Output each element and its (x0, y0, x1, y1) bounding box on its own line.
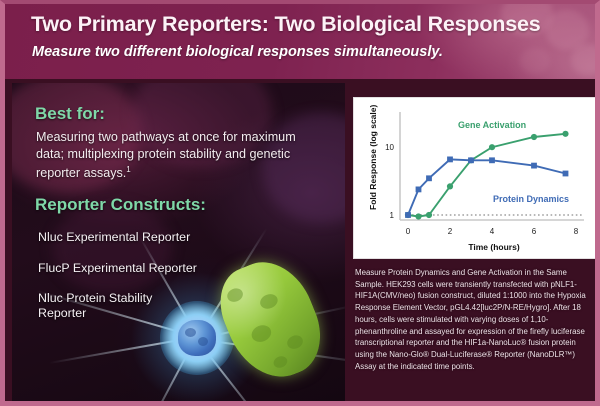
data-point (531, 163, 537, 169)
page-title: Two Primary Reporters: Two Biological Re… (31, 12, 541, 37)
data-point (447, 183, 453, 189)
data-point (468, 157, 474, 163)
left-content-panel: Best for: Measuring two pathways at once… (12, 83, 345, 401)
background-texture (52, 203, 172, 293)
y-axis-title: Fold Response (log scale) (368, 105, 378, 210)
header-texture-blob (520, 48, 550, 74)
data-point (447, 157, 453, 163)
reporter-constructs-heading: Reporter Constructs: (35, 195, 206, 215)
header-texture-blob (571, 44, 600, 76)
data-point (426, 175, 432, 181)
figure-caption: Measure Protein Dynamics and Gene Activa… (355, 267, 593, 372)
series-label-protein-dynamics: Protein Dynamics (493, 194, 569, 204)
x-tick-label-0: 0 (406, 227, 411, 236)
data-point (416, 187, 422, 193)
blue-protein-model (178, 320, 216, 356)
poster-header: Two Primary Reporters: Two Biological Re… (5, 4, 600, 79)
product-poster: Two Primary Reporters: Two Biological Re… (0, 0, 600, 406)
x-axis-title: Time (hours) (468, 242, 519, 252)
series-label-gene-activation: Gene Activation (458, 120, 526, 130)
y-tick-label-1: 1 (390, 211, 395, 220)
green-protein-model (208, 249, 334, 391)
x-tick-label-8: 8 (574, 227, 579, 236)
best-for-text: Measuring two pathways at once for maxim… (36, 130, 296, 180)
best-for-heading: Best for: (35, 104, 105, 124)
response-line-chart: 10 1 Fold Response (log scale) 0 2 4 6 8… (354, 98, 598, 258)
data-point (562, 131, 568, 137)
data-point (489, 144, 495, 150)
series-line-protein-dynamics (408, 159, 566, 215)
construct-item-nluc-protein-stability: Nluc Protein Stability Reporter (38, 291, 188, 321)
data-point (405, 212, 411, 218)
y-tick-label-10: 10 (385, 143, 394, 152)
best-for-body: Measuring two pathways at once for maxim… (36, 129, 304, 182)
chart-card: 10 1 Fold Response (log scale) 0 2 4 6 8… (353, 97, 599, 259)
x-tick-label-2: 2 (448, 227, 453, 236)
page-subtitle: Measure two different biological respons… (32, 44, 443, 60)
data-point (489, 157, 495, 163)
series-layer (405, 131, 569, 220)
construct-item-flucp-experimental: FlucP Experimental Reporter (38, 261, 197, 276)
construct-item-nluc-experimental: Nluc Experimental Reporter (38, 230, 190, 245)
x-tick-label-6: 6 (532, 227, 537, 236)
data-point (563, 171, 569, 177)
footnote-marker: 1 (126, 165, 130, 174)
data-point (426, 212, 432, 218)
data-point (415, 213, 421, 219)
x-tick-label-4: 4 (490, 227, 495, 236)
data-point (531, 134, 537, 140)
